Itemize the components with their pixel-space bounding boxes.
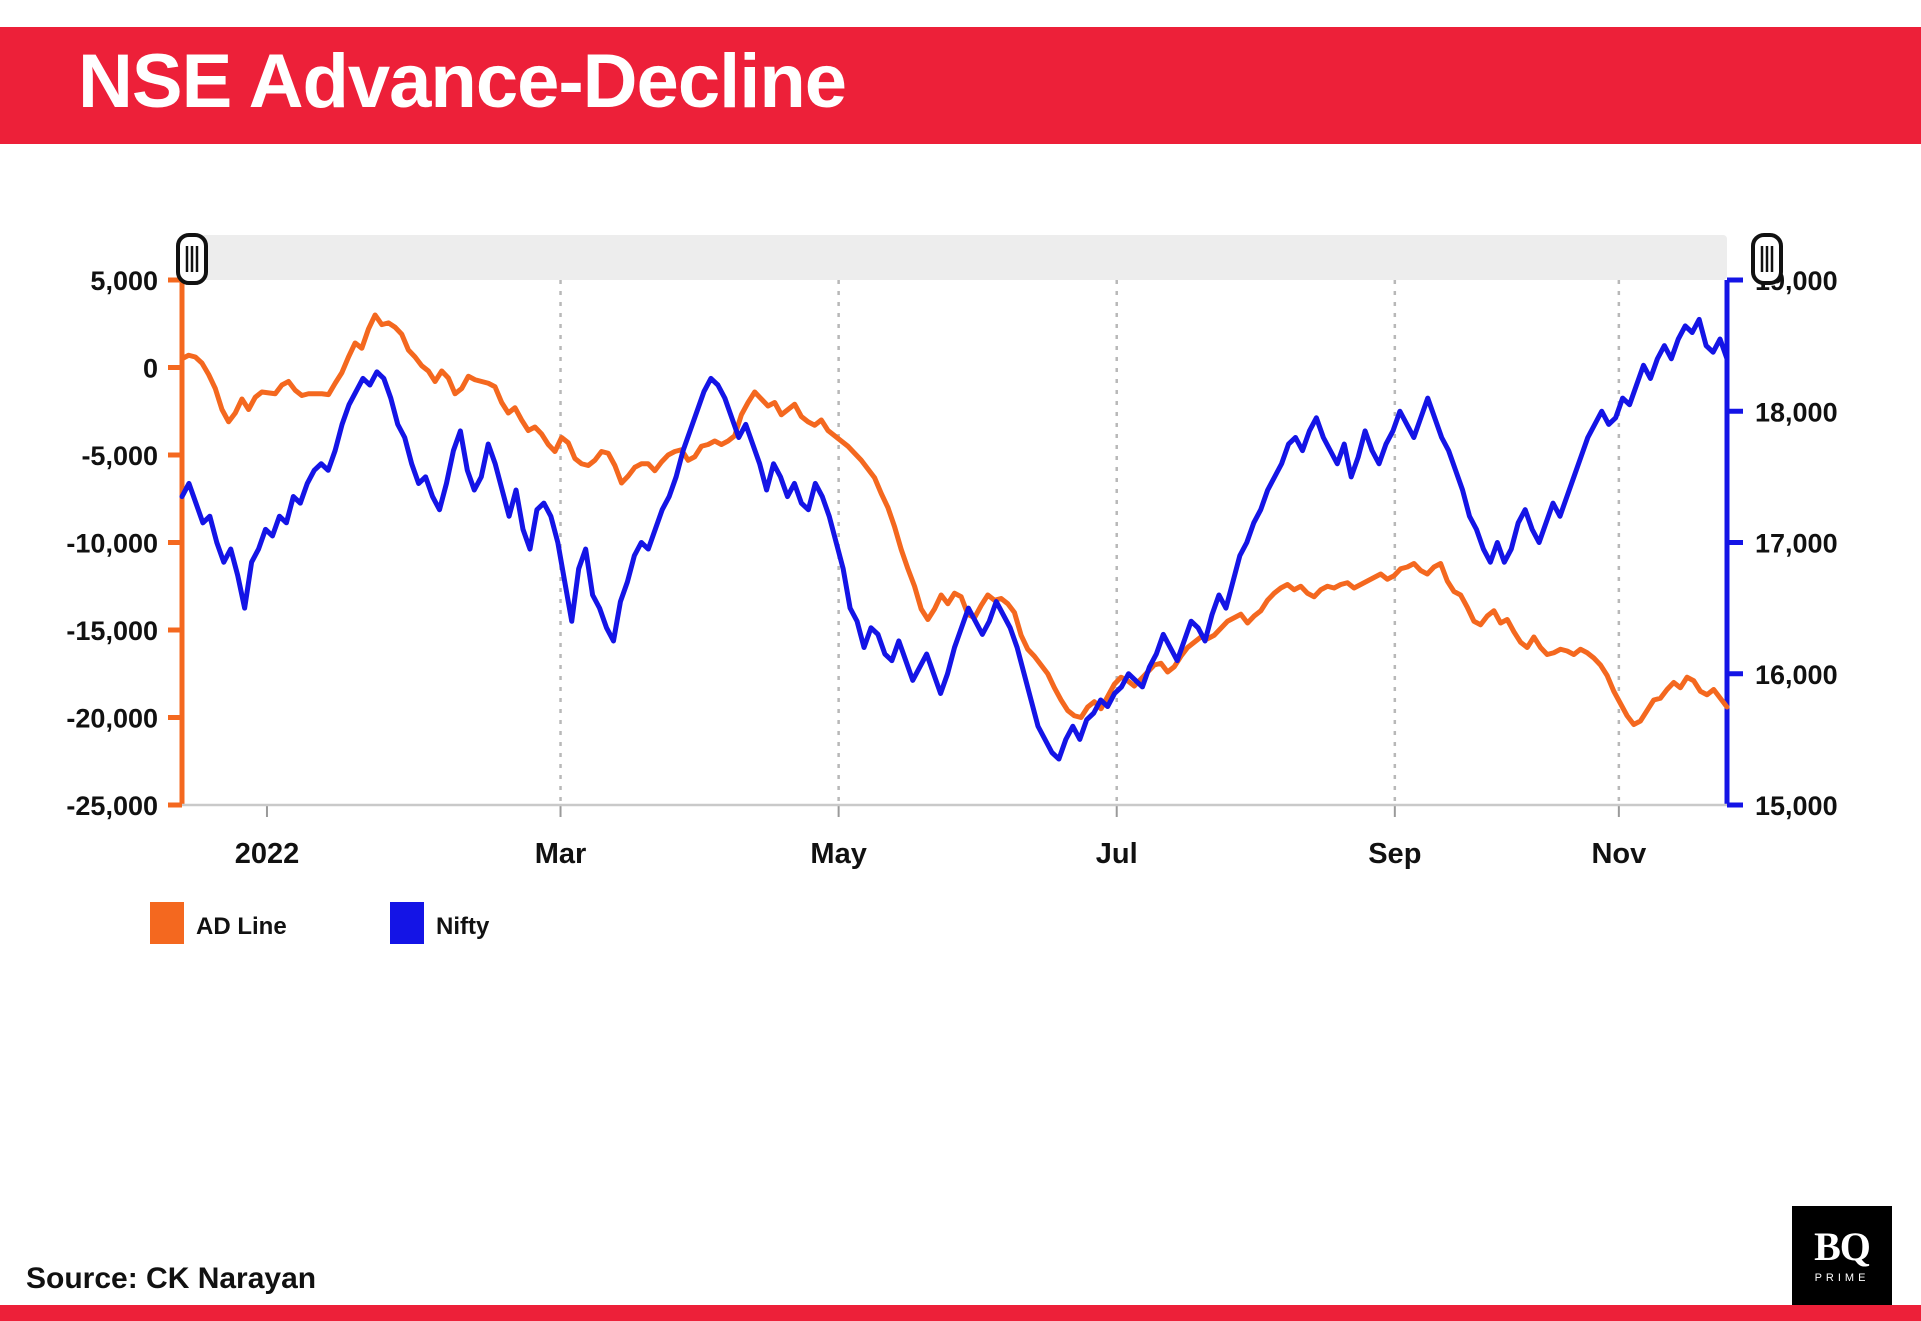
- legend-swatch: [150, 902, 184, 944]
- x-tick-label: 2022: [235, 838, 300, 870]
- y-right-tick-label: 18,000: [1755, 397, 1838, 427]
- y-left-tick-label: -5,000: [81, 441, 158, 471]
- legend-label: Nifty: [436, 913, 490, 940]
- x-tick-label: Nov: [1591, 838, 1646, 870]
- x-tick-label: May: [810, 838, 866, 870]
- y-left-tick-label: 0: [143, 354, 158, 384]
- source-caption: Source: CK Narayan: [26, 1262, 316, 1296]
- range-grip-right[interactable]: [1753, 235, 1781, 283]
- logo-prime-text: PRIME: [1815, 1272, 1870, 1284]
- advance-decline-chart: 5,0000-5,000-10,000-15,000-20,000-25,000…: [0, 150, 1921, 1190]
- x-tick-label: Sep: [1368, 838, 1421, 870]
- y-left-tick-label: -10,000: [66, 529, 158, 559]
- bq-prime-logo: BQ PRIME: [1792, 1206, 1892, 1306]
- y-left-tick-label: -15,000: [66, 616, 158, 646]
- y-left-tick-label: -20,000: [66, 704, 158, 734]
- logo-bq-text: BQ: [1814, 1228, 1870, 1266]
- range-grip-left[interactable]: [178, 235, 206, 283]
- legend-label: AD Line: [196, 913, 287, 940]
- y-axis-left: 5,0000-5,000-10,000-15,000-20,000-25,000: [66, 266, 182, 821]
- y-right-tick-label: 17,000: [1755, 529, 1838, 559]
- y-left-tick-label: 5,000: [90, 266, 158, 296]
- page-title: NSE Advance-Decline: [78, 38, 846, 125]
- y-axis-right: 19,00018,00017,00016,00015,000: [1727, 266, 1838, 821]
- y-right-tick-label: 15,000: [1755, 791, 1838, 821]
- x-axis: 2022MarMayJulSepNov: [235, 805, 1647, 870]
- legend-item-nifty[interactable]: Nifty: [390, 902, 490, 944]
- y-left-tick-label: -25,000: [66, 791, 158, 821]
- legend-item-ad-line[interactable]: AD Line: [150, 902, 287, 944]
- x-tick-label: Jul: [1096, 838, 1138, 870]
- chart-container: 5,0000-5,000-10,000-15,000-20,000-25,000…: [0, 150, 1921, 1190]
- y-right-tick-label: 16,000: [1755, 660, 1838, 690]
- bottom-stripe: [0, 1305, 1921, 1321]
- legend-swatch: [390, 902, 424, 944]
- chart-legend: AD LineNifty: [150, 902, 490, 944]
- x-tick-label: Mar: [535, 838, 587, 870]
- range-slider-track[interactable]: [182, 235, 1727, 280]
